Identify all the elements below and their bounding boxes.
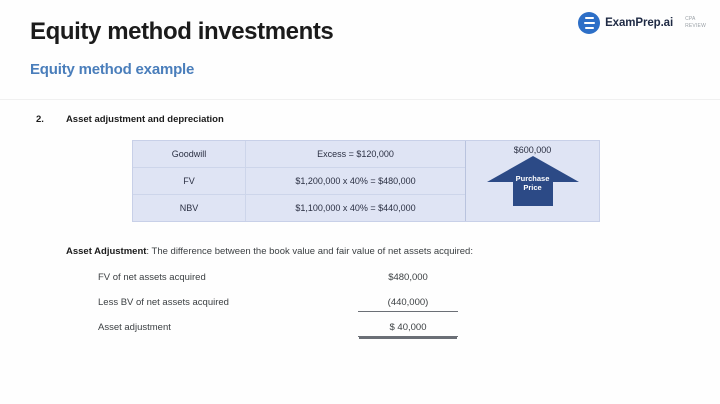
lead-bold-label: Asset Adjustment [66,246,146,257]
brand-tagline-line1: CPA [685,16,696,22]
row-formula: $1,200,000 x 40% = $480,000 [246,168,466,195]
step-heading: 2. Asset adjustment and depreciation [36,114,224,125]
row-label: Goodwill [133,141,246,168]
row-formula: Excess = $120,000 [246,141,466,168]
asset-adjustment-calc: FV of net assets acquired $480,000 Less … [98,272,528,347]
caption-line2: Price [523,183,541,192]
brand-tagline-line2: Review [685,23,706,29]
row-label: NBV [133,195,246,222]
slide-canvas: ExamPrep.ai CPA Review Equity method inv… [0,0,720,404]
calc-amount: $ 40,000 [358,322,458,337]
purchase-price-caption: Purchase Price [487,174,579,193]
brand-name: ExamPrep.ai [605,17,673,29]
brand-logo: ExamPrep.ai CPA Review [578,12,706,34]
page-title: Equity method investments [30,18,333,46]
up-arrow-icon: Purchase Price [487,156,579,206]
calc-row: Asset adjustment $ 40,000 [98,322,528,347]
purchase-price-cell: $600,000 Purchase Price [465,141,599,221]
step-label: Asset adjustment and depreciation [66,114,224,125]
page-subtitle: Equity method example [30,61,194,78]
caption-line1: Purchase [516,174,550,183]
calc-description: Less BV of net assets acquired [98,297,358,308]
calc-amount: (440,000) [358,297,458,312]
calc-row: Less BV of net assets acquired (440,000) [98,297,528,322]
asset-adjustment-lead: Asset Adjustment: The difference between… [66,246,473,257]
purchase-price-amount: $600,000 [514,145,552,155]
row-label: FV [133,168,246,195]
list-circle-icon [578,12,600,34]
calc-description: Asset adjustment [98,322,358,333]
calc-row: FV of net assets acquired $480,000 [98,272,528,297]
calc-description: FV of net assets acquired [98,272,358,283]
valuation-table: Goodwill Excess = $120,000 FV $1,200,000… [132,140,600,222]
header-divider [0,99,720,100]
valuation-grid: Goodwill Excess = $120,000 FV $1,200,000… [133,141,465,221]
brand-tagline: CPA Review [685,16,706,30]
row-formula: $1,100,000 x 40% = $440,000 [246,195,466,222]
table-row: NBV $1,100,000 x 40% = $440,000 [133,195,465,222]
lead-rest-text: : The difference between the book value … [146,246,473,257]
table-row: Goodwill Excess = $120,000 [133,141,465,168]
calc-amount: $480,000 [358,272,458,286]
step-number: 2. [36,114,44,125]
table-row: FV $1,200,000 x 40% = $480,000 [133,168,465,195]
